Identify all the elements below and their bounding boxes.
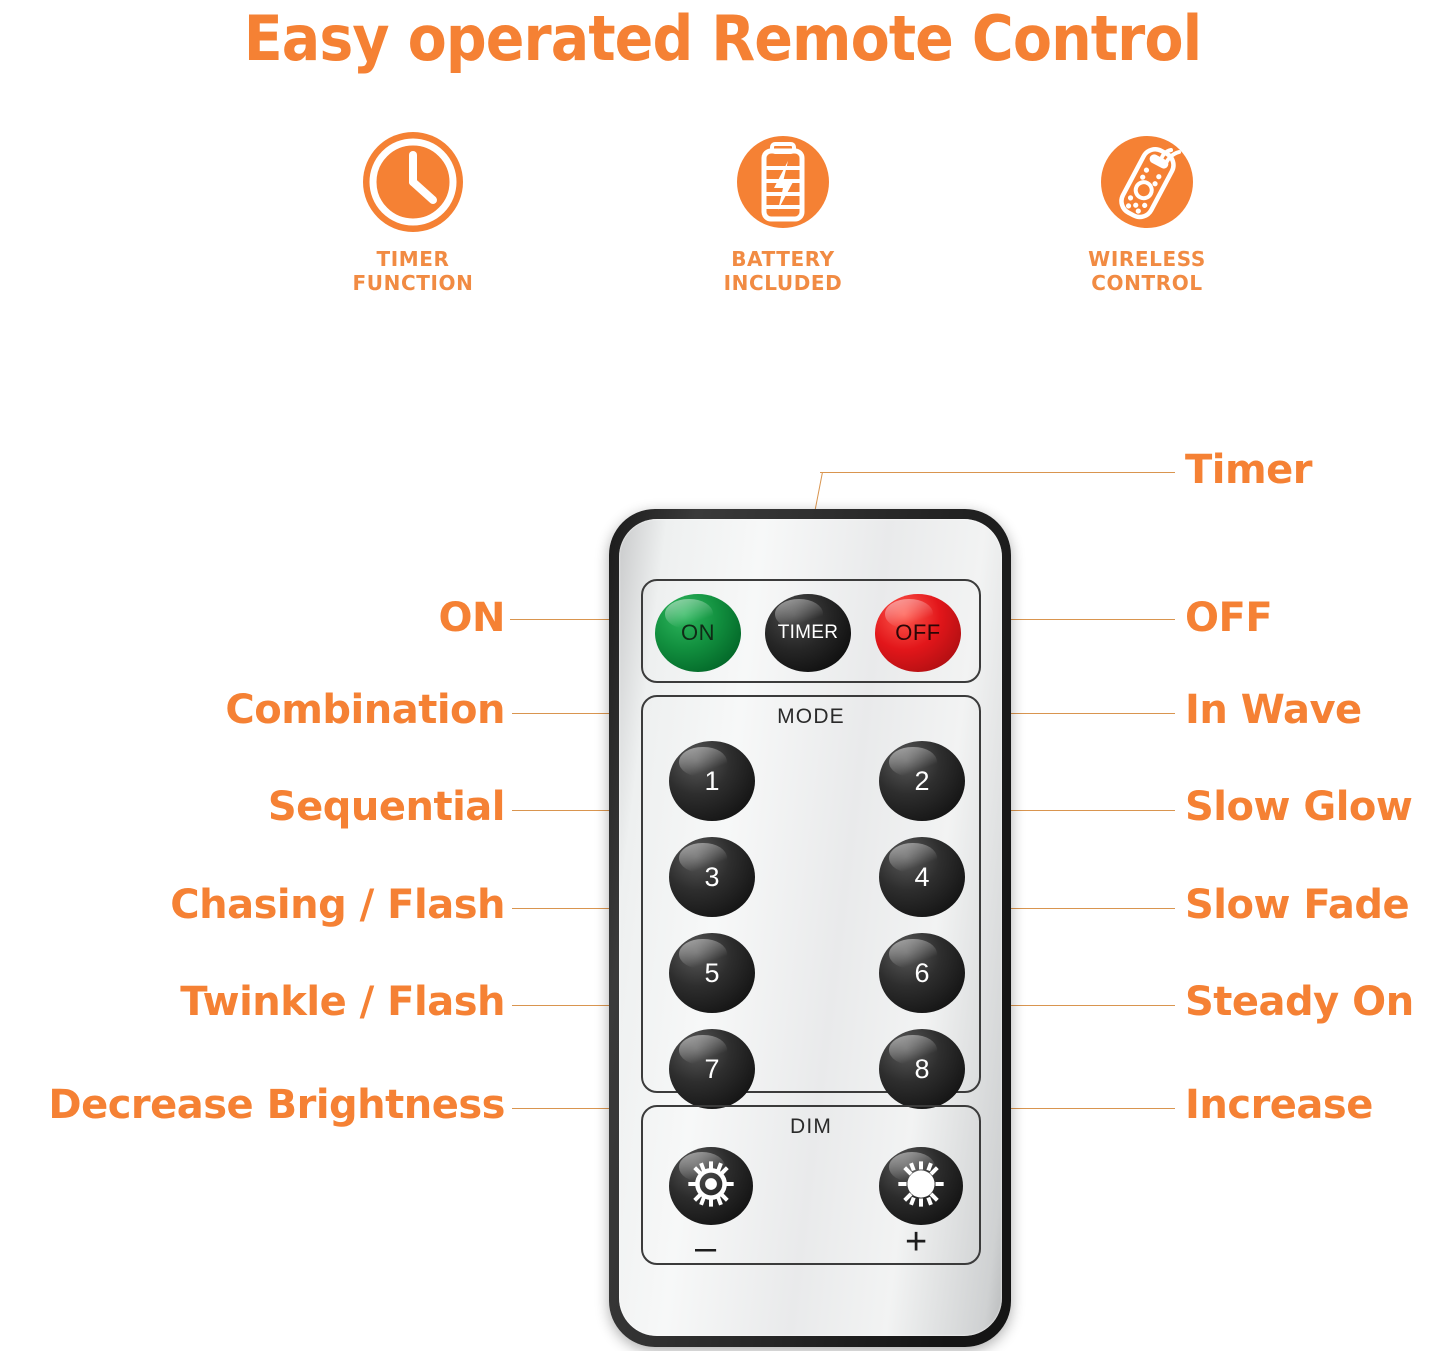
- remote-faceplate: ON TIMER OFF MODE 1 2 3: [619, 519, 1002, 1336]
- feature-label-line1: TIMER: [283, 248, 543, 272]
- mode-button-5[interactable]: 5: [669, 933, 755, 1013]
- mode-button-2-label: 2: [914, 766, 929, 797]
- timer-button[interactable]: TIMER: [765, 594, 851, 672]
- power-panel: ON TIMER OFF: [641, 579, 981, 683]
- mode-button-8[interactable]: 8: [879, 1029, 965, 1109]
- callout-increase: Increase: [1185, 1085, 1373, 1125]
- callout-slow-fade: Slow Fade: [1185, 885, 1409, 925]
- mode-button-7-label: 7: [704, 1054, 719, 1085]
- callout-twinkle-flash: Twinkle / Flash: [5, 982, 505, 1022]
- callout-combination: Combination: [5, 690, 505, 730]
- feature-timer-function: TIMER FUNCTION: [283, 130, 543, 295]
- timer-button-label: TIMER: [778, 622, 839, 644]
- feature-label: BATTERY INCLUDED: [653, 248, 913, 295]
- brightness-low-icon: [682, 1155, 740, 1218]
- feature-label: TIMER FUNCTION: [283, 248, 543, 295]
- feature-label-line2: INCLUDED: [653, 272, 913, 296]
- leader-line-timer: [820, 472, 1175, 473]
- callout-chasing-flash: Chasing / Flash: [5, 885, 505, 925]
- dim-panel-label: DIM: [643, 1115, 979, 1139]
- on-button[interactable]: ON: [655, 594, 741, 672]
- callout-sequential: Sequential: [5, 787, 505, 827]
- feature-label-line1: WIRELESS: [1017, 248, 1277, 272]
- on-button-label: ON: [681, 620, 715, 646]
- mode-button-2[interactable]: 2: [879, 741, 965, 821]
- clock-icon: [361, 130, 465, 234]
- brightness-down-button[interactable]: [669, 1147, 753, 1225]
- mode-button-6-label: 6: [914, 958, 929, 989]
- mode-button-3[interactable]: 3: [669, 837, 755, 917]
- callout-slow-glow: Slow Glow: [1185, 787, 1412, 827]
- mode-button-6[interactable]: 6: [879, 933, 965, 1013]
- dim-panel: DIM: [641, 1105, 981, 1265]
- mode-button-4[interactable]: 4: [879, 837, 965, 917]
- off-button[interactable]: OFF: [875, 594, 961, 672]
- mode-button-1[interactable]: 1: [669, 741, 755, 821]
- feature-battery-included: BATTERY INCLUDED: [653, 130, 913, 295]
- callout-in-wave: In Wave: [1185, 690, 1362, 730]
- callout-decrease-brightness: Decrease Brightness: [0, 1085, 505, 1125]
- mode-button-3-label: 3: [704, 862, 719, 893]
- mode-button-5-label: 5: [704, 958, 719, 989]
- brightness-up-button[interactable]: [879, 1147, 963, 1225]
- mode-button-1-label: 1: [704, 766, 719, 797]
- feature-badges: TIMER FUNCTION BATTERY INCLUDED: [0, 130, 1445, 315]
- dim-plus-sign: +: [905, 1223, 927, 1261]
- callout-steady-on: Steady On: [1185, 982, 1414, 1022]
- remote-control: ON TIMER OFF MODE 1 2 3: [609, 509, 1011, 1347]
- feature-label-line2: CONTROL: [1017, 272, 1277, 296]
- dim-minus-sign: –: [695, 1229, 716, 1267]
- mode-button-4-label: 4: [914, 862, 929, 893]
- feature-label: WIRELESS CONTROL: [1017, 248, 1277, 295]
- mode-button-8-label: 8: [914, 1054, 929, 1085]
- feature-label-line1: BATTERY: [653, 248, 913, 272]
- mode-panel-label: MODE: [643, 705, 979, 729]
- page-title: Easy operated Remote Control: [58, 2, 1387, 75]
- off-button-label: OFF: [895, 620, 941, 646]
- feature-wireless-control: WIRELESS CONTROL: [1017, 130, 1277, 295]
- battery-icon: [731, 130, 835, 234]
- mode-button-7[interactable]: 7: [669, 1029, 755, 1109]
- callout-on: ON: [5, 598, 505, 638]
- remote-icon: [1095, 130, 1199, 234]
- brightness-high-icon: [892, 1155, 950, 1218]
- callout-timer: Timer: [1185, 450, 1312, 490]
- mode-panel: MODE 1 2 3 4 5 6: [641, 695, 981, 1093]
- feature-label-line2: FUNCTION: [283, 272, 543, 296]
- infographic-canvas: Easy operated Remote Control TIMER FUNCT…: [0, 0, 1445, 1351]
- callout-off: OFF: [1185, 598, 1272, 638]
